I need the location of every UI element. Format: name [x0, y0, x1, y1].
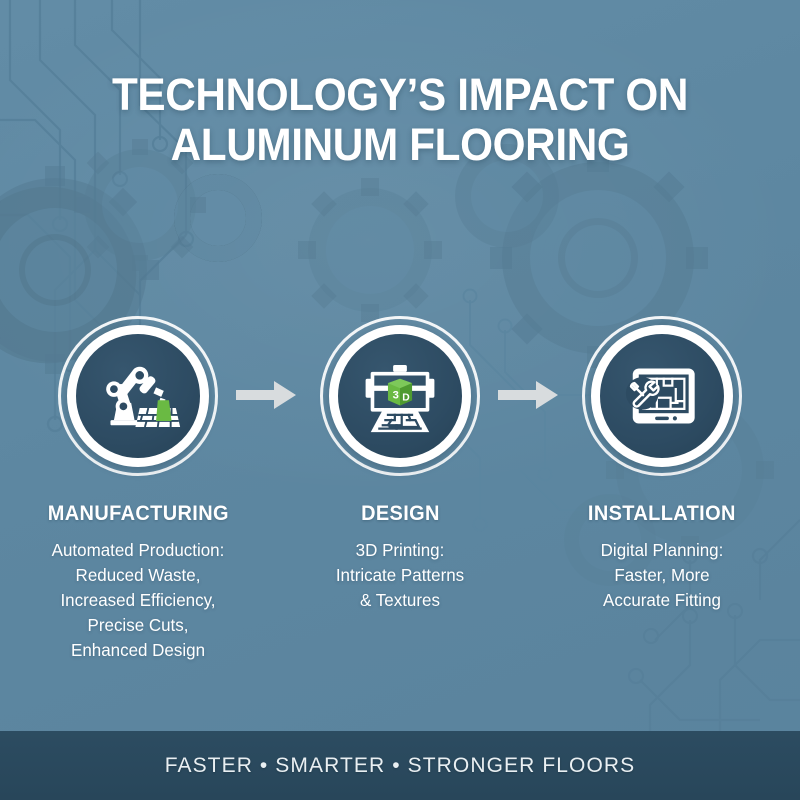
svg-text:D: D: [402, 392, 410, 403]
footer-tagline: FASTER • SMARTER • STRONGER FLOORS: [165, 754, 636, 778]
tablet-floorplan-tools-icon: [591, 325, 733, 467]
title-line-1: TECHNOLOGY’S IMPACT ON: [24, 70, 776, 120]
badge-installation: [582, 316, 742, 476]
step-description-installation: Digital Planning: Faster, More Accurate …: [529, 538, 795, 613]
footer-band: FASTER • SMARTER • STRONGER FLOORS: [0, 731, 800, 800]
step-description-design: 3D Printing: Intricate Patterns & Textur…: [267, 538, 533, 613]
title-line-2: ALUMINUM FLOORING: [24, 120, 776, 170]
step-description-manufacturing: Automated Production: Reduced Waste, Inc…: [5, 538, 271, 663]
badge-manufacturing: [58, 316, 218, 476]
step-heading-installation: INSTALLATION: [529, 502, 795, 526]
desc-line: Digital Planning:: [533, 538, 791, 563]
step-manufacturing[interactable]: MANUFACTURING Automated Production: Redu…: [5, 316, 271, 476]
desc-line: Faster, More: [533, 563, 791, 588]
step-heading-design: DESIGN: [267, 502, 533, 526]
desc-line: Increased Efficiency,: [9, 588, 267, 613]
badge-design: 3 D: [320, 316, 480, 476]
desc-line: 3D Printing:: [271, 538, 529, 563]
process-steps: MANUFACTURING Automated Production: Redu…: [0, 316, 800, 516]
desc-line: & Textures: [271, 588, 529, 613]
desc-line: Reduced Waste,: [9, 563, 267, 588]
infographic-canvas: TECHNOLOGY’S IMPACT ON ALUMINUM FLOORING: [0, 0, 800, 800]
desc-line: Enhanced Design: [9, 638, 267, 663]
step-heading-manufacturing: MANUFACTURING: [5, 502, 271, 526]
desc-line: Accurate Fitting: [533, 588, 791, 613]
robotic-arm-icon: [67, 325, 209, 467]
step-installation[interactable]: INSTALLATION Digital Planning: Faster, M…: [529, 316, 795, 476]
desc-line: Intricate Patterns: [271, 563, 529, 588]
page-title: TECHNOLOGY’S IMPACT ON ALUMINUM FLOORING: [0, 70, 800, 171]
cube-label: 3: [393, 390, 399, 402]
desc-line: Automated Production:: [9, 538, 267, 563]
step-design[interactable]: 3 D: [267, 316, 533, 476]
3d-printer-icon: 3 D: [329, 325, 471, 467]
desc-line: Precise Cuts,: [9, 613, 267, 638]
